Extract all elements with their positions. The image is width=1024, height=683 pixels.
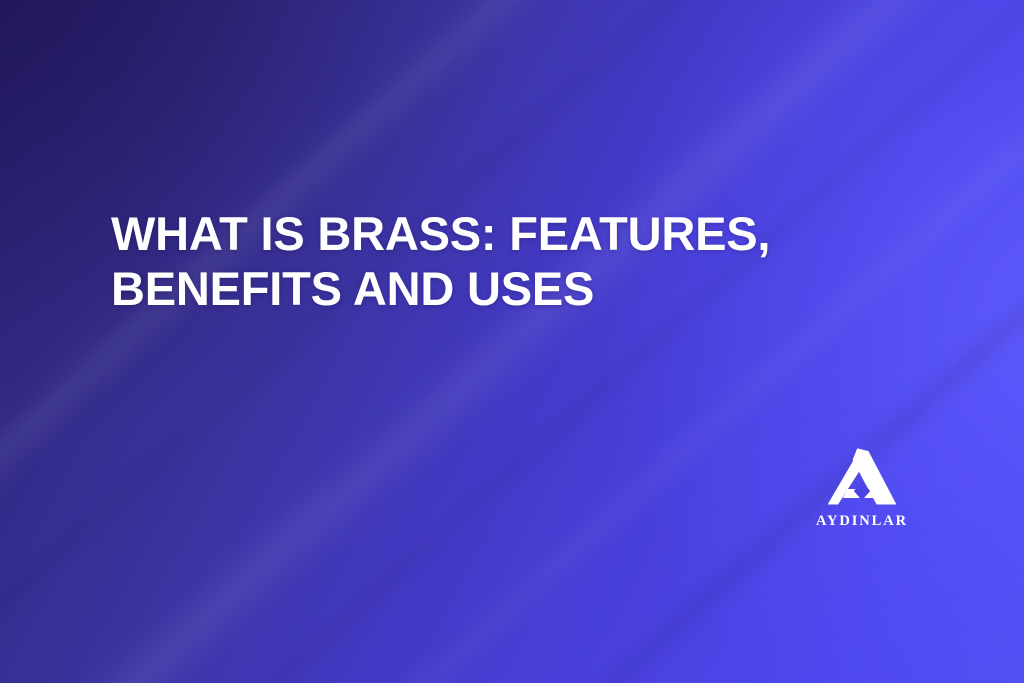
article-hero-banner: What Is Brass: Features, Benefits And Us… xyxy=(0,0,1024,683)
streak xyxy=(0,0,1024,683)
background-corner-shade xyxy=(0,0,1024,683)
streak xyxy=(0,0,1024,683)
brand-wordmark: AYDINLAR xyxy=(816,514,908,529)
streak xyxy=(0,0,1024,683)
aydinlar-a-monogram-icon xyxy=(827,448,897,510)
streak xyxy=(0,0,1024,683)
streak xyxy=(0,0,1024,683)
streak xyxy=(0,0,1024,683)
background-diagonal-streaks xyxy=(0,0,1024,683)
background-glow xyxy=(0,0,1024,683)
brand-logo[interactable]: AYDINLAR xyxy=(806,448,918,529)
page-title: What Is Brass: Features, Benefits And Us… xyxy=(111,206,901,316)
